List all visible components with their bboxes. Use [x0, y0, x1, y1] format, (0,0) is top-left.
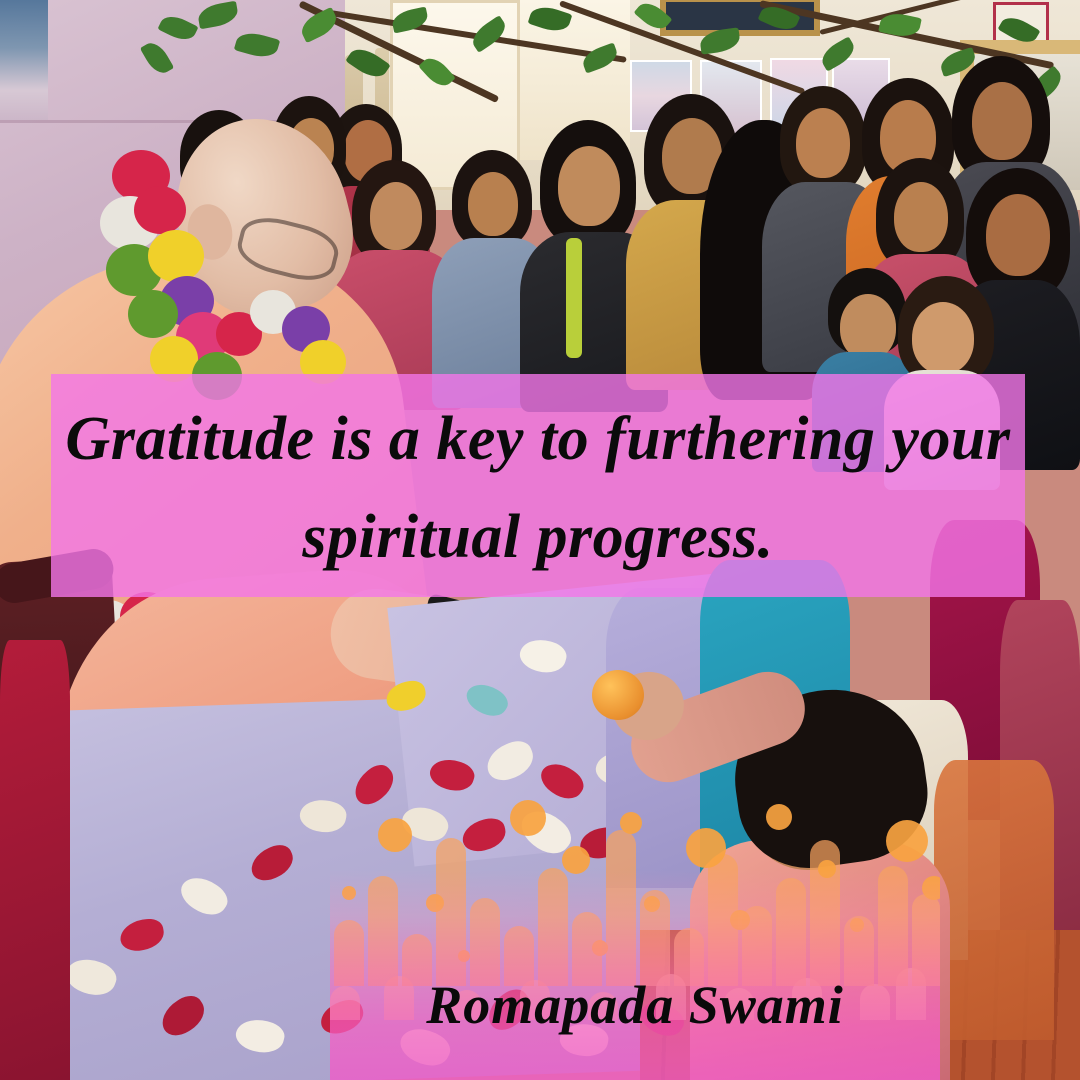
quote-line-2: spiritual progress.: [51, 506, 1025, 568]
decor-dot: [686, 828, 726, 868]
quote-banner: Gratitude is a key to furthering your sp…: [51, 374, 1025, 597]
decor-dot: [886, 820, 928, 862]
attribution-signature: Romapada Swami: [330, 965, 940, 1045]
quote-graphic: Gratitude is a key to furthering your sp…: [0, 0, 1080, 1080]
decor-dot: [766, 804, 792, 830]
author-name: Romapada Swami: [426, 974, 844, 1036]
marigold-offering: [592, 670, 644, 720]
quote-line-1: Gratitude is a key to furthering your: [51, 408, 1025, 470]
decor-dot: [510, 800, 546, 836]
decor-dot: [378, 818, 412, 852]
decor-dot: [620, 812, 642, 834]
wall-banner: [0, 0, 48, 120]
